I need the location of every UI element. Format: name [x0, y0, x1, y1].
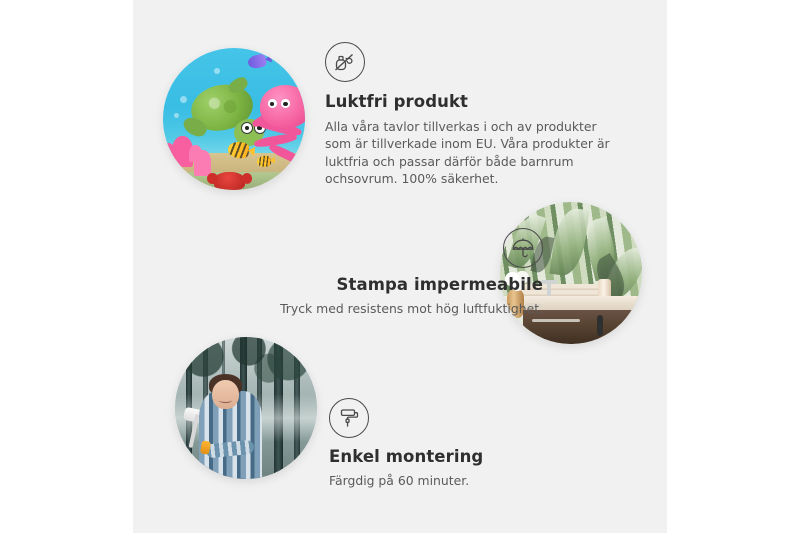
coral-icon: [194, 150, 211, 176]
painter-woman-forest-mural-thumbnail[interactable]: [175, 337, 317, 479]
coral-icon: [172, 136, 193, 167]
feature-assembly: Enkel montering Färgdig på 60 minuter.: [329, 398, 629, 489]
feature-body: Alla våra tavlor tillverkas i och av pro…: [325, 118, 625, 188]
octopus-eye: [281, 99, 290, 108]
octopus-body: [260, 85, 305, 128]
paint-roller-icon: [329, 398, 369, 438]
sea-turtle-eye: [241, 122, 253, 134]
no-perfume-spray-icon: [325, 42, 365, 82]
bubble-icon: [214, 68, 220, 74]
content-panel: Luktfri produkt Alla våra tavlor tillver…: [133, 0, 667, 533]
umbrella-icon-wrap: [203, 228, 543, 268]
feature-waterproof: Stampa impermeabile Tryck med resistens …: [203, 228, 543, 317]
faucet: [547, 280, 551, 296]
paint-roller-grip: [200, 440, 211, 454]
feature-title: Enkel montering: [329, 447, 629, 468]
underwater-kids-mural-thumbnail[interactable]: [163, 48, 305, 190]
feature-body: Tryck med resistens mot hög luftfuktighe…: [203, 300, 543, 318]
octopus-eye: [268, 99, 277, 108]
crab-icon: [214, 172, 245, 190]
yellow-fish-icon: [228, 141, 251, 159]
forest-mural-scene: [175, 337, 317, 479]
feature-body: Färgdig på 60 minuter.: [329, 472, 629, 490]
umbrella-icon: [503, 228, 543, 268]
feature-title: Stampa impermeabile: [203, 275, 543, 296]
screenshot-stage: Luktfri produkt Alla våra tavlor tillver…: [0, 0, 800, 533]
woman-face: [212, 380, 239, 410]
feature-odourless: Luktfri produkt Alla våra tavlor tillver…: [325, 42, 625, 188]
underwater-scene: [163, 48, 305, 190]
feature-title: Luktfri produkt: [325, 92, 625, 113]
